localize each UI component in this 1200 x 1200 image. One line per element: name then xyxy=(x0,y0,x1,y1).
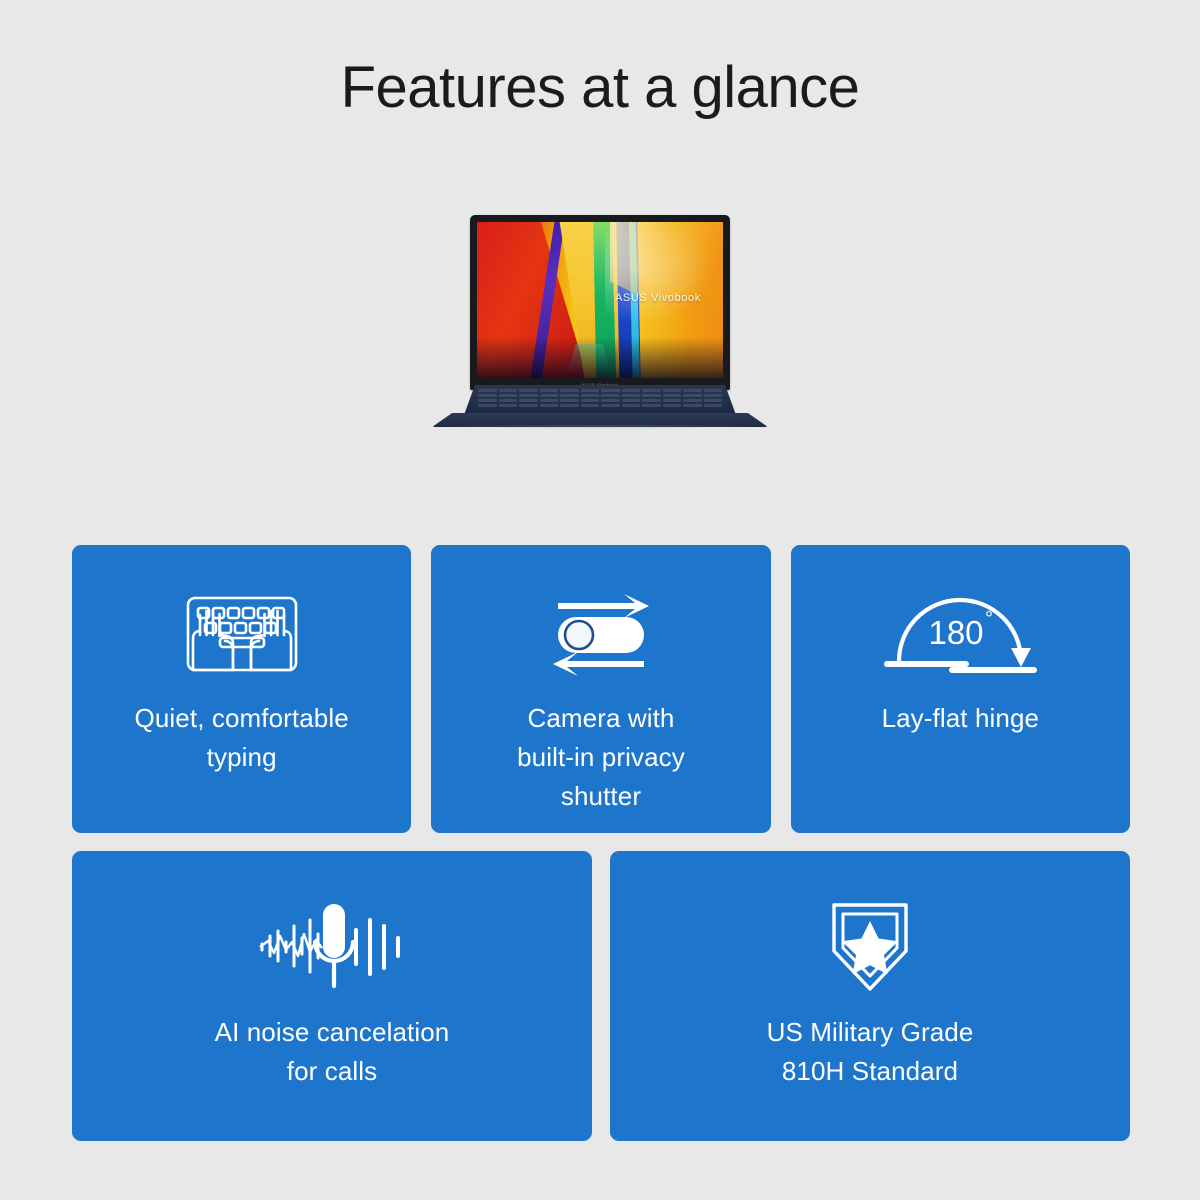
keyboard-key xyxy=(519,404,538,407)
laptop-base xyxy=(432,385,768,433)
keyboard-key xyxy=(663,394,682,397)
keyboard-key xyxy=(601,389,620,392)
feature-card-label: AI noise cancelation for calls xyxy=(197,1013,468,1091)
svg-text:°: ° xyxy=(985,608,993,630)
keyboard-key xyxy=(683,399,702,402)
keyboard-key xyxy=(642,389,661,392)
keyboard-key xyxy=(642,394,661,397)
feature-card-us-military-grade[interactable]: US Military Grade 810H Standard xyxy=(610,851,1130,1141)
keyboard-key xyxy=(478,404,497,407)
keyboard-key xyxy=(478,389,497,392)
keyboard-key xyxy=(560,399,579,402)
wallpaper-brand-text: ASUS Vivobook xyxy=(615,292,701,304)
keyboard-row xyxy=(478,394,722,397)
keyboard-key xyxy=(540,404,559,407)
feature-card-label: Quiet, comfortable typing xyxy=(117,699,367,777)
feature-card-label: US Military Grade 810H Standard xyxy=(749,1013,992,1091)
camera-privacy-shutter-icon xyxy=(536,587,666,683)
laptop-screen: ASUS Vivobook xyxy=(477,222,723,378)
keyboard-hands-icon xyxy=(178,587,306,683)
wallpaper-bottom-shade xyxy=(477,337,723,378)
keyboard-key xyxy=(499,389,518,392)
keyboard-key xyxy=(560,404,579,407)
keyboard-key xyxy=(622,394,641,397)
keyboard-key xyxy=(704,399,723,402)
keyboard-key xyxy=(560,389,579,392)
keyboard-key xyxy=(663,399,682,402)
keyboard-key xyxy=(663,389,682,392)
keyboard-key xyxy=(499,399,518,402)
feature-card-lay-flat-hinge[interactable]: 180 ° Lay-flat hinge xyxy=(791,545,1130,833)
feature-overview-page: Features at a glance ASUS Vivobook xyxy=(0,0,1200,1200)
feature-cards-row-2: AI noise cancelation for calls US Milita… xyxy=(72,851,1130,1141)
laptop-illustration: ASUS Vivobook ASUS Vivobook xyxy=(420,215,780,460)
keyboard-key xyxy=(704,394,723,397)
feature-card-ai-noise-cancelation[interactable]: AI noise cancelation for calls xyxy=(72,851,592,1141)
keyboard-key xyxy=(519,394,538,397)
laptop-lid: ASUS Vivobook ASUS Vivobook xyxy=(470,215,730,390)
keyboard-key xyxy=(581,399,600,402)
keyboard-key xyxy=(704,404,723,407)
keyboard-key xyxy=(540,389,559,392)
keyboard-key xyxy=(519,399,538,402)
keyboard-key xyxy=(642,399,661,402)
keyboard-key xyxy=(622,399,641,402)
microphone-waveform-icon xyxy=(256,895,408,999)
keyboard-key xyxy=(581,404,600,407)
feature-cards-row-1: Quiet, comfortable typing Camera with bu… xyxy=(72,545,1130,833)
keyboard-key xyxy=(683,394,702,397)
keyboard-key xyxy=(478,394,497,397)
keyboard-key xyxy=(601,399,620,402)
page-title: Features at a glance xyxy=(0,56,1200,120)
keyboard-key xyxy=(601,394,620,397)
keyboard-row xyxy=(478,404,722,407)
keyboard-key xyxy=(601,404,620,407)
keyboard-key xyxy=(560,394,579,397)
keyboard-key xyxy=(581,394,600,397)
keyboard-key xyxy=(478,399,497,402)
shield-star-icon xyxy=(818,895,922,999)
feature-card-label: Lay-flat hinge xyxy=(864,699,1058,738)
keyboard-key xyxy=(540,394,559,397)
laptop-keyboard-keys xyxy=(478,389,722,409)
svg-text:180: 180 xyxy=(928,614,983,651)
feature-card-privacy-shutter[interactable]: Camera with built-in privacy shutter xyxy=(431,545,770,833)
keyboard-key xyxy=(683,404,702,407)
keyboard-key xyxy=(704,389,723,392)
keyboard-key xyxy=(683,389,702,392)
keyboard-key xyxy=(581,389,600,392)
keyboard-key xyxy=(642,404,661,407)
hero-product-image: ASUS Vivobook ASUS Vivobook xyxy=(0,215,1200,485)
keyboard-row xyxy=(478,389,722,392)
keyboard-key xyxy=(622,389,641,392)
keyboard-key xyxy=(519,389,538,392)
laptop-shadow xyxy=(436,425,764,430)
keyboard-key xyxy=(663,404,682,407)
keyboard-key xyxy=(540,399,559,402)
keyboard-row xyxy=(478,399,722,402)
keyboard-key xyxy=(499,394,518,397)
hinge-180-degree-icon: 180 ° xyxy=(878,587,1043,683)
keyboard-key xyxy=(622,404,641,407)
keyboard-key xyxy=(499,404,518,407)
wallpaper-glow xyxy=(605,231,718,325)
feature-card-label: Camera with built-in privacy shutter xyxy=(499,699,703,816)
feature-card-quiet-typing[interactable]: Quiet, comfortable typing xyxy=(72,545,411,833)
